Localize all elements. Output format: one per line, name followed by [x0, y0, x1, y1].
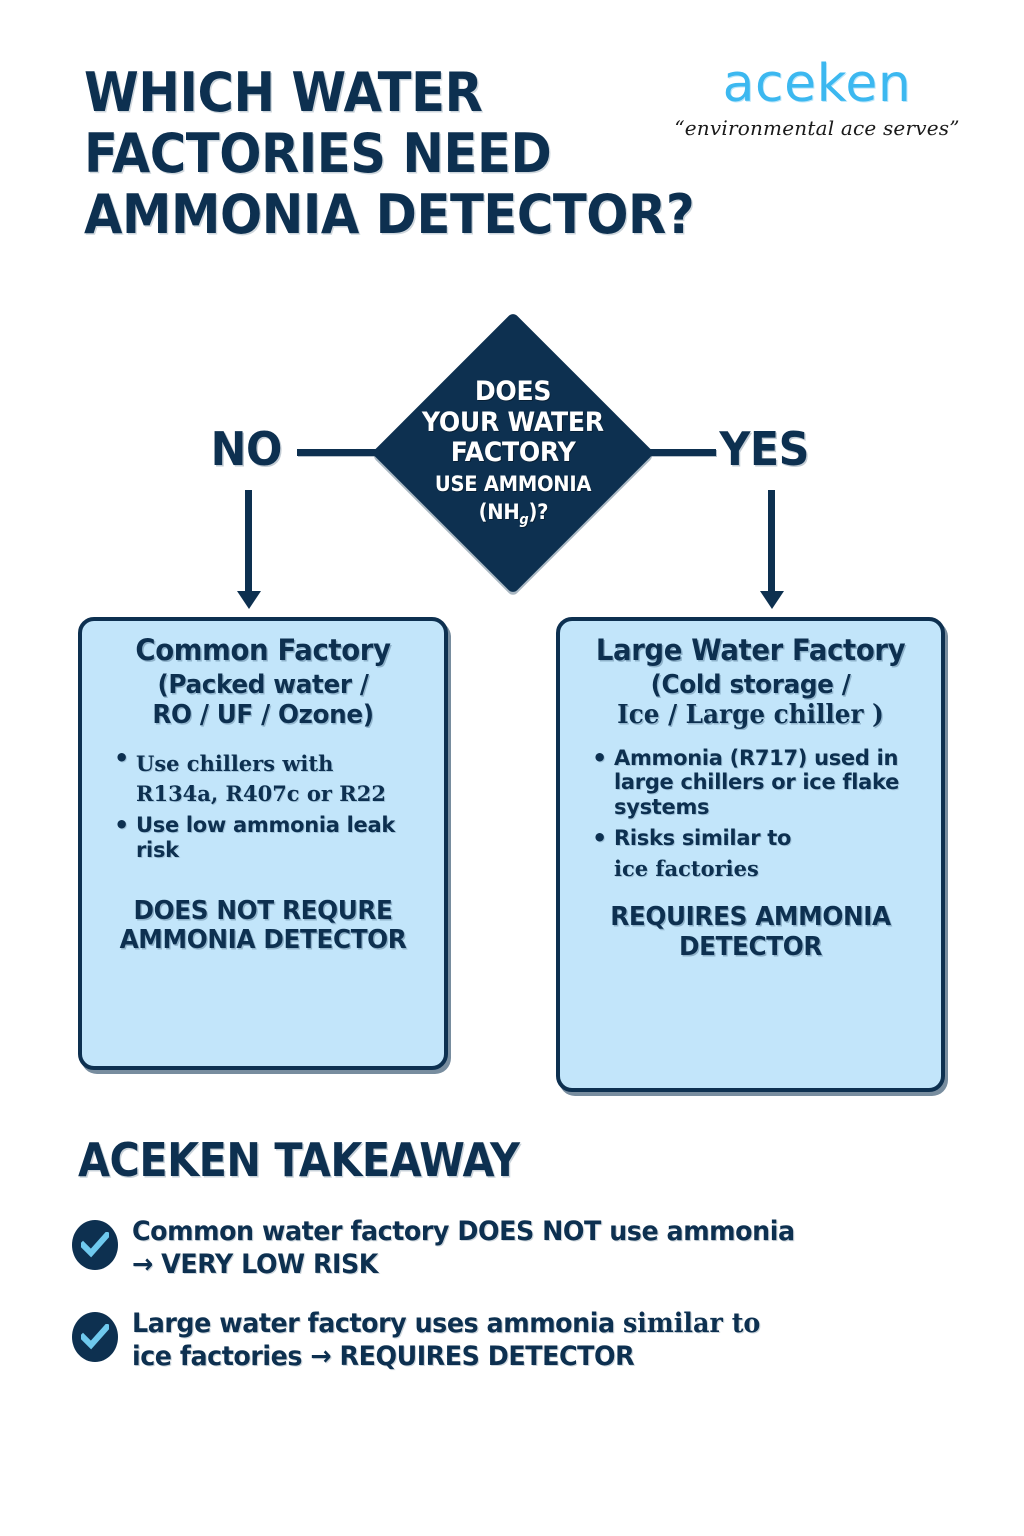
- connector-line-left: [297, 449, 379, 456]
- logo-wordmark: aceken: [662, 58, 972, 110]
- left-box-bullet-list: Use chillers with R134a, R407c or R22 Us…: [98, 746, 428, 863]
- takeaway-1-line-2: → VERY LOW RISK: [132, 1249, 795, 1282]
- right-box-subtitle-line-2: Ice / Large chiller ): [585, 701, 917, 730]
- page-title-line-2: FACTORIES NEED: [84, 123, 673, 184]
- takeaway-list: Common water factory DOES NOT use ammoni…: [72, 1216, 952, 1400]
- down-arrow-right: [768, 490, 775, 592]
- page-title-line-3: AMMONIA DETECTOR?: [84, 184, 673, 245]
- check-circle-icon: [72, 1312, 118, 1362]
- check-icon: [81, 1324, 109, 1350]
- left-verdict-line-1: DOES NOT REQURE: [106, 897, 420, 926]
- right-box-verdict: REQUIRES AMMONIA DETECTOR: [585, 903, 917, 961]
- left-box-verdict: DOES NOT REQURE AMMONIA DETECTOR: [106, 897, 420, 955]
- left-verdict-line-2: AMMONIA DETECTOR: [106, 926, 420, 955]
- left-box-title: Common Factory: [106, 635, 420, 665]
- list-item: Ammonia (R717) used in large chillers or…: [592, 746, 925, 820]
- bullet-text: Use chillers with: [136, 752, 333, 777]
- right-box-subtitle-line-1: (Cold storage /: [585, 671, 917, 700]
- connector-line-right: [650, 449, 716, 456]
- list-item: Use low ammonia leak risk: [114, 813, 428, 863]
- formula-prefix: (NH: [478, 500, 519, 524]
- check-circle-icon: [72, 1220, 118, 1270]
- diamond-line-5: (NHg)?: [478, 501, 548, 529]
- takeaway-1-line-1: Common water factory DOES NOT use ammoni…: [132, 1216, 795, 1249]
- branch-label-no: NO: [211, 422, 282, 476]
- takeaway-heading: ACEKEN TAKEAWAY: [78, 1133, 520, 1187]
- takeaway-text-1: Common water factory DOES NOT use ammoni…: [132, 1216, 795, 1282]
- takeaway-2-part-1: Large water factory uses ammonia: [132, 1308, 623, 1339]
- right-verdict-line-1: REQUIRES AMMONIA: [585, 903, 917, 932]
- bullet-subtext: ice factories: [614, 857, 759, 882]
- diamond-line-4: USE AMMONIA: [435, 473, 591, 497]
- page-title-line-1: WHICH WATER: [84, 62, 673, 123]
- takeaway-item-2: Large water factory uses ammonia similar…: [72, 1308, 952, 1374]
- takeaway-item-1: Common water factory DOES NOT use ammoni…: [72, 1216, 952, 1282]
- left-box-subtitle: (Packed water / RO / UF / Ozone): [106, 671, 420, 729]
- diamond-line-1: DOES: [475, 377, 551, 408]
- takeaway-2-line-1: Large water factory uses ammonia similar…: [132, 1308, 760, 1341]
- bullet-text: Risks similar to: [614, 826, 791, 850]
- bullet-subtext: R134a, R407c or R22: [136, 782, 386, 807]
- brand-logo: aceken “environmental ace serves”: [662, 58, 972, 140]
- right-box-title: Large Water Factory: [585, 635, 917, 665]
- check-icon: [81, 1232, 109, 1258]
- formula-subscript: g: [519, 512, 528, 528]
- page-title: WHICH WATER FACTORIES NEED AMMONIA DETEC…: [84, 62, 673, 245]
- takeaway-text-2: Large water factory uses ammonia similar…: [132, 1308, 760, 1374]
- bullet-text: Use low ammonia leak risk: [136, 813, 395, 862]
- logo-tagline: “environmental ace serves”: [662, 116, 972, 140]
- left-box-subtitle-line-2: RO / UF / Ozone): [106, 701, 420, 730]
- bullet-text: Ammonia (R717) used in large chillers or…: [614, 746, 899, 820]
- left-box-subtitle-line-1: (Packed water /: [106, 671, 420, 700]
- list-item: Risks similar to ice factories: [592, 826, 925, 882]
- down-arrow-left: [245, 490, 252, 592]
- diamond-line-2: YOUR WATER: [422, 408, 604, 439]
- right-verdict-line-2: DETECTOR: [585, 933, 917, 962]
- takeaway-2-line-2: ice factories → REQUIRES DETECTOR: [132, 1341, 760, 1374]
- list-item: Use chillers with R134a, R407c or R22: [114, 746, 428, 808]
- formula-suffix: )?: [528, 500, 548, 524]
- right-box-subtitle: (Cold storage / Ice / Large chiller ): [585, 671, 917, 729]
- outcome-box-common-factory: Common Factory (Packed water / RO / UF /…: [78, 617, 448, 1070]
- outcome-box-large-factory: Large Water Factory (Cold storage / Ice …: [556, 617, 945, 1092]
- right-box-bullet-list: Ammonia (R717) used in large chillers or…: [576, 746, 925, 882]
- takeaway-2-serif-part: similar to: [623, 1308, 760, 1341]
- diamond-line-3: FACTORY: [451, 438, 576, 469]
- diamond-text-block: DOES YOUR WATER FACTORY USE AMMONIA (NHg…: [372, 312, 654, 594]
- branch-label-yes: YES: [719, 422, 809, 476]
- decision-diamond: DOES YOUR WATER FACTORY USE AMMONIA (NHg…: [372, 312, 654, 594]
- infographic-page: WHICH WATER FACTORIES NEED AMMONIA DETEC…: [0, 0, 1024, 1536]
